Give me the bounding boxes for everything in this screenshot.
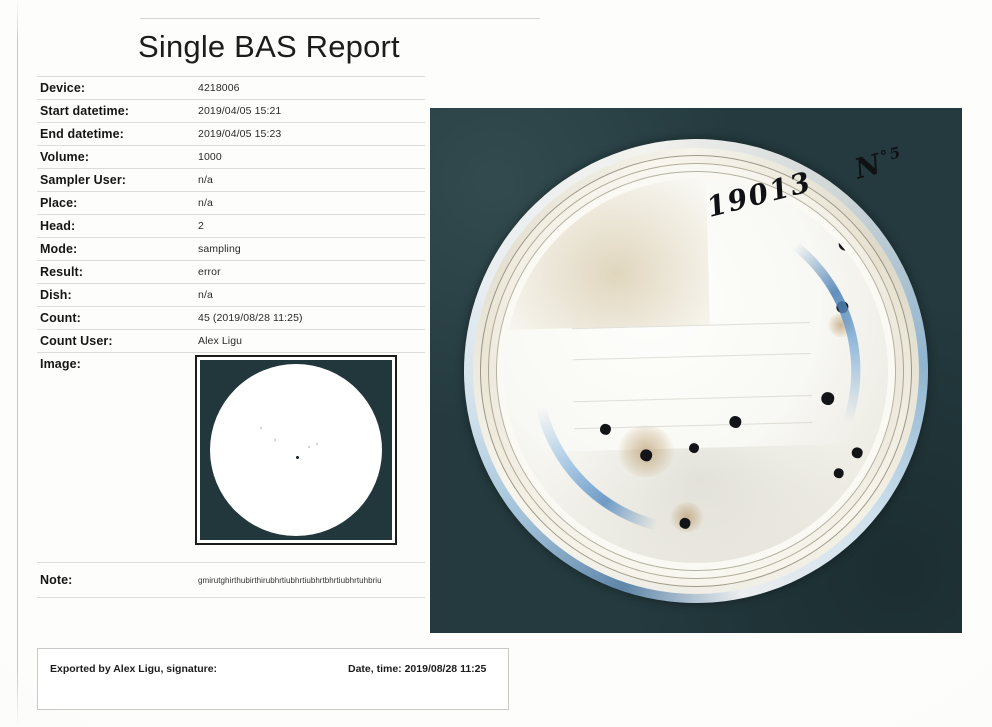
table-row-image: Image: bbox=[37, 353, 425, 563]
table-row: Volume: 1000 bbox=[37, 146, 425, 169]
petri-dish-photo[interactable]: 19013 N°5 bbox=[430, 108, 962, 633]
row-value: 2019/04/05 15:23 bbox=[195, 123, 425, 146]
row-label: Sampler User: bbox=[37, 169, 195, 192]
table-row-note: Note: gmirutghirthubirthirubhrtiubhrtiub… bbox=[37, 563, 425, 598]
row-value: 2 bbox=[195, 215, 425, 238]
table-row: Head: 2 bbox=[37, 215, 425, 238]
row-label: Mode: bbox=[37, 238, 195, 261]
row-label: Image: bbox=[37, 353, 195, 563]
row-label: Volume: bbox=[37, 146, 195, 169]
row-label: Result: bbox=[37, 261, 195, 284]
footer-date-time: Date, time: 2019/08/28 11:25 bbox=[348, 663, 486, 675]
row-value: 2019/04/05 15:21 bbox=[195, 100, 425, 123]
row-value: n/a bbox=[195, 284, 425, 307]
report-info-table: Device: 4218006 Start datetime: 2019/04/… bbox=[37, 76, 425, 598]
note-text: gmirutghirthubirthirubhrtiubhrtiubhrtbhr… bbox=[198, 576, 382, 585]
table-row: Sampler User: n/a bbox=[37, 169, 425, 192]
row-value: Alex Ligu bbox=[195, 330, 425, 353]
row-value-image bbox=[195, 353, 425, 563]
petri-dish: 19013 N°5 bbox=[458, 133, 934, 609]
row-label: Dish: bbox=[37, 284, 195, 307]
row-label: Device: bbox=[37, 77, 195, 100]
row-value: n/a bbox=[195, 192, 425, 215]
row-label: End datetime: bbox=[37, 123, 195, 146]
dish-thumbnail[interactable] bbox=[195, 355, 397, 545]
row-value: 45 (2019/08/28 11:25) bbox=[195, 307, 425, 330]
report-info-table-body: Device: 4218006 Start datetime: 2019/04/… bbox=[37, 77, 425, 598]
row-label: Note: bbox=[37, 563, 195, 598]
table-row: End datetime: 2019/04/05 15:23 bbox=[37, 123, 425, 146]
dish-thumbnail-speck bbox=[260, 427, 262, 429]
footer-signature-box: Exported by Alex Ligu, signature: Date, … bbox=[37, 648, 509, 710]
dish-thumbnail-canvas bbox=[200, 360, 392, 540]
table-row: Start datetime: 2019/04/05 15:21 bbox=[37, 100, 425, 123]
table-row: Mode: sampling bbox=[37, 238, 425, 261]
handwriting-suffix: °5 bbox=[878, 142, 904, 165]
table-row: Count: 45 (2019/08/28 11:25) bbox=[37, 307, 425, 330]
table-row: Device: 4218006 bbox=[37, 77, 425, 100]
table-row: Count User: Alex Ligu bbox=[37, 330, 425, 353]
row-value: error bbox=[195, 261, 425, 284]
row-value: sampling bbox=[195, 238, 425, 261]
row-label: Count: bbox=[37, 307, 195, 330]
table-row: Result: error bbox=[37, 261, 425, 284]
table-row: Place: n/a bbox=[37, 192, 425, 215]
scan-top-edge-artifact bbox=[140, 18, 540, 19]
page-title: Single BAS Report bbox=[138, 29, 400, 65]
row-value: 4218006 bbox=[195, 77, 425, 100]
row-label: Head: bbox=[37, 215, 195, 238]
dish-thumbnail-speck bbox=[308, 446, 310, 448]
dish-thumbnail-circle bbox=[210, 364, 382, 536]
scan-left-edge-artifact bbox=[17, 0, 18, 727]
table-row: Dish: n/a bbox=[37, 284, 425, 307]
row-label: Count User: bbox=[37, 330, 195, 353]
row-label: Start datetime: bbox=[37, 100, 195, 123]
row-value: 1000 bbox=[195, 146, 425, 169]
row-label: Place: bbox=[37, 192, 195, 215]
row-value: n/a bbox=[195, 169, 425, 192]
footer-exported-by: Exported by Alex Ligu, signature: bbox=[50, 663, 217, 675]
dish-thumbnail-speck bbox=[316, 443, 318, 445]
